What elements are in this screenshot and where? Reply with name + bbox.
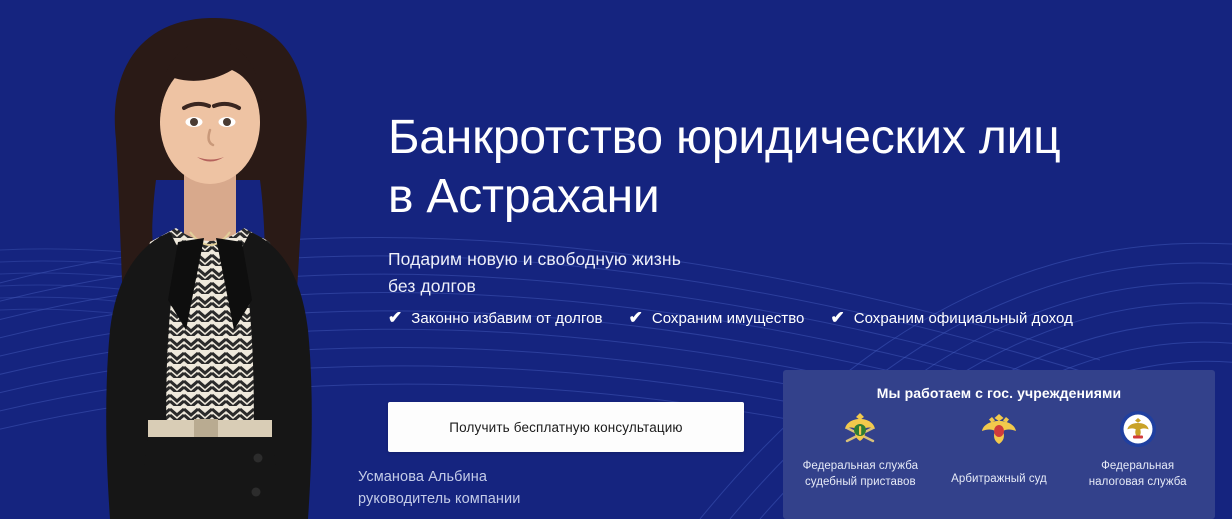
gov-item-label: Федеральная служба судебный приставов: [803, 458, 918, 490]
feature-label: Сохраним имущество: [652, 311, 805, 326]
feature-label: Законно избавим от долгов: [411, 311, 602, 326]
gov-label-line-1: Федеральная: [1101, 460, 1174, 472]
hero-subtitle: Подарим новую и свободную жизнь без долг…: [388, 246, 848, 300]
gov-item-arbitration-court: Арбитражный суд: [932, 408, 1066, 487]
gov-item-label: Федеральная налоговая служба: [1089, 458, 1187, 490]
gov-label-line-1: Федеральная служба: [803, 460, 918, 472]
check-icon: ✔: [629, 309, 643, 326]
headline-line-2: в Астрахани: [388, 167, 1178, 226]
gov-item-federal-tax-service: Федеральная налоговая служба: [1071, 408, 1205, 490]
federal-tax-service-emblem-icon: [1117, 408, 1159, 450]
arbitration-court-emblem-icon: [978, 408, 1020, 450]
free-consultation-button[interactable]: Получить бесплатную консультацию: [388, 402, 744, 452]
subhead-line-2: без долгов: [388, 273, 848, 300]
gov-panel-title: Мы работаем с гос. учреждениями: [783, 385, 1215, 401]
gov-label-line-2: судебный приставов: [803, 474, 918, 490]
feature-list: ✔ Законно избавим от долгов ✔ Сохраним и…: [388, 310, 1073, 327]
check-icon: ✔: [830, 309, 844, 326]
hero-banner: Усманова Альбина руководитель компании Б…: [0, 0, 1232, 519]
feature-item-legal-debt-relief: ✔ Законно избавим от долгов: [388, 310, 603, 327]
page-title: Банкротство юридических лиц в Астрахани: [388, 108, 1178, 226]
feature-label: Сохраним официальный доход: [854, 311, 1073, 326]
headline-line-1: Банкротство юридических лиц: [388, 111, 1061, 164]
check-icon: ✔: [388, 309, 402, 326]
feature-item-keep-income: ✔ Сохраним официальный доход: [830, 310, 1072, 327]
gov-label-line-2: налоговая служба: [1089, 474, 1187, 490]
subhead-line-1: Подарим новую и свободную жизнь: [388, 249, 681, 269]
portrait-photo: [44, 0, 374, 519]
gov-label-line-1: Арбитражный суд: [951, 473, 1047, 485]
bailiff-service-emblem-icon: [839, 408, 881, 450]
gov-institutions-panel: Мы работаем с гос. учреждениями: [783, 370, 1215, 519]
gov-institutions-list: Федеральная служба судебный приставов Ар…: [791, 408, 1207, 490]
gov-item-bailiff-service: Федеральная служба судебный приставов: [793, 408, 927, 490]
feature-item-keep-property: ✔ Сохраним имущество: [629, 310, 805, 327]
gov-item-label: Арбитражный суд: [951, 471, 1047, 487]
